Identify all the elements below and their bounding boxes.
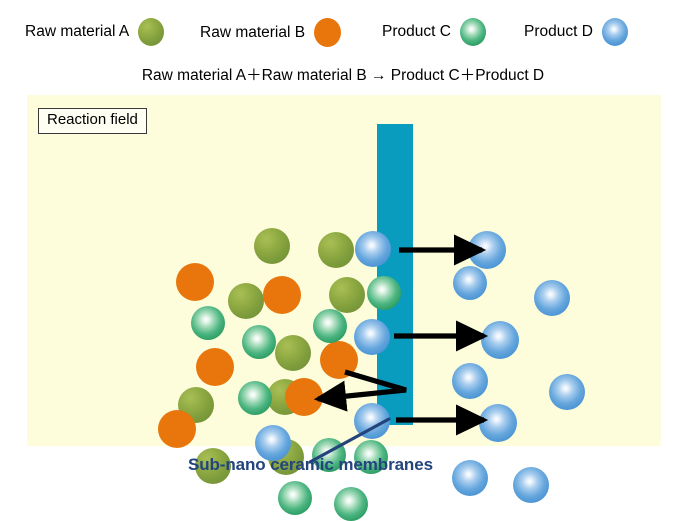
green-sphere-icon	[460, 18, 486, 46]
particle-green	[238, 381, 272, 415]
particle-blue	[453, 266, 487, 300]
particle-blue	[481, 321, 519, 359]
legend-label-product-d: Product D	[524, 24, 593, 40]
particle-olive	[275, 335, 311, 371]
blue-sphere-icon	[602, 18, 628, 46]
particle-olive	[228, 283, 264, 319]
particle-orange	[263, 276, 301, 314]
particle-orange	[176, 263, 214, 301]
legend-item-raw-material-b: Raw material B	[200, 18, 341, 47]
particle-blue	[479, 404, 517, 442]
reaction-field-label: Reaction field	[38, 108, 147, 134]
particle-blue	[534, 280, 570, 316]
ceramic-membrane-bar	[377, 124, 413, 425]
particle-olive	[318, 232, 354, 268]
particle-blue	[354, 403, 390, 439]
particle-blue	[354, 319, 390, 355]
diagram-canvas: Raw material A Raw material B Product C …	[0, 0, 686, 499]
particle-green	[242, 325, 276, 359]
legend-label-raw-material-b: Raw material B	[200, 25, 305, 41]
particle-green	[334, 487, 368, 521]
membrane-caption: Sub-nano ceramic membranes	[188, 455, 433, 475]
reaction-field: Reaction field	[27, 95, 661, 446]
orange-sphere-icon	[314, 18, 341, 47]
olive-sphere-icon	[138, 18, 164, 46]
particle-orange	[158, 410, 196, 448]
particle-green	[367, 276, 401, 310]
legend-item-product-c: Product C	[382, 18, 486, 46]
particle-blue	[452, 363, 488, 399]
particle-green	[313, 309, 347, 343]
legend-label-product-c: Product C	[382, 24, 451, 40]
particle-blue	[549, 374, 585, 410]
particle-blue	[513, 467, 549, 503]
particle-olive	[254, 228, 290, 264]
legend: Raw material A Raw material B Product C …	[0, 18, 686, 60]
particle-blue	[468, 231, 506, 269]
particle-orange	[285, 378, 323, 416]
particle-orange	[320, 341, 358, 379]
particle-green	[278, 481, 312, 515]
particle-green	[191, 306, 225, 340]
particle-blue	[452, 460, 488, 496]
reaction-equation: Raw material A＋Raw material B → Product …	[0, 63, 686, 85]
legend-item-product-d: Product D	[524, 18, 628, 46]
particle-orange	[196, 348, 234, 386]
legend-label-raw-material-a: Raw material A	[25, 24, 129, 40]
legend-item-raw-material-a: Raw material A	[25, 18, 164, 46]
particle-blue	[355, 231, 391, 267]
particle-olive	[329, 277, 365, 313]
